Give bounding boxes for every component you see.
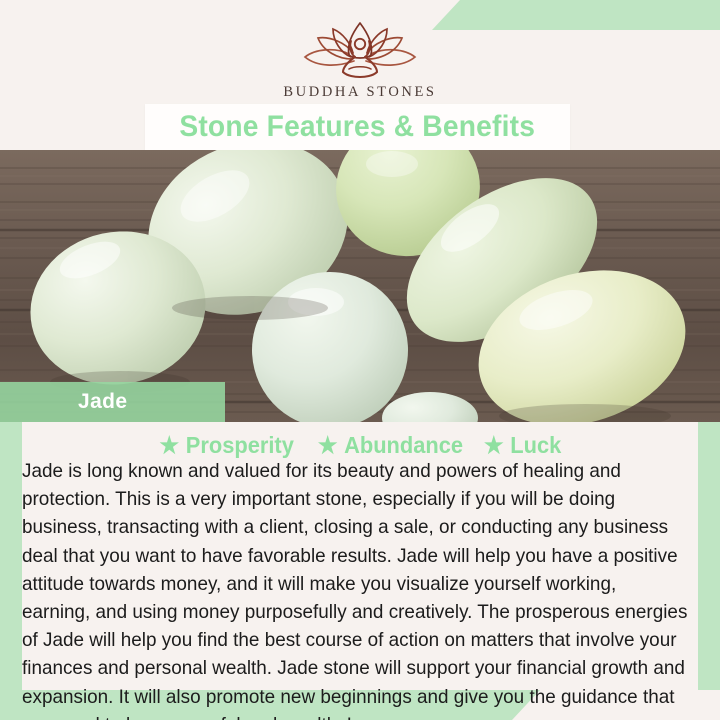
brand-name: BUDDHA STONES bbox=[283, 84, 436, 101]
benefit-abundance: ★ Abundance bbox=[317, 432, 462, 459]
star-icon: ★ bbox=[485, 434, 505, 457]
stone-name-band: Jade bbox=[0, 382, 225, 422]
benefit-label: Prosperity bbox=[186, 432, 294, 459]
benefits-row: ★ Prosperity ★ Abundance ★ Luck bbox=[0, 428, 720, 462]
benefit-label: Abundance bbox=[344, 432, 463, 459]
brand-logo: BUDDHA STONES bbox=[283, 17, 436, 101]
stone-info-poster: BUDDHA STONES Stone Features & Benefits bbox=[0, 0, 720, 720]
star-icon: ★ bbox=[317, 434, 337, 457]
benefit-label: Luck bbox=[511, 432, 562, 459]
stone-name-label: Jade bbox=[78, 390, 127, 414]
brand-header: BUDDHA STONES bbox=[0, 0, 720, 110]
description-text: Jade is long known and valued for its be… bbox=[22, 458, 688, 720]
page-title: Stone Features & Benefits bbox=[180, 110, 536, 144]
description-block: Jade is long known and valued for its be… bbox=[22, 458, 688, 720]
star-icon: ★ bbox=[160, 434, 180, 457]
benefit-prosperity: ★ Prosperity bbox=[160, 432, 294, 459]
lotus-meditation-icon bbox=[291, 17, 429, 81]
title-bar: Stone Features & Benefits bbox=[145, 104, 570, 150]
benefit-luck: ★ Luck bbox=[485, 432, 562, 459]
